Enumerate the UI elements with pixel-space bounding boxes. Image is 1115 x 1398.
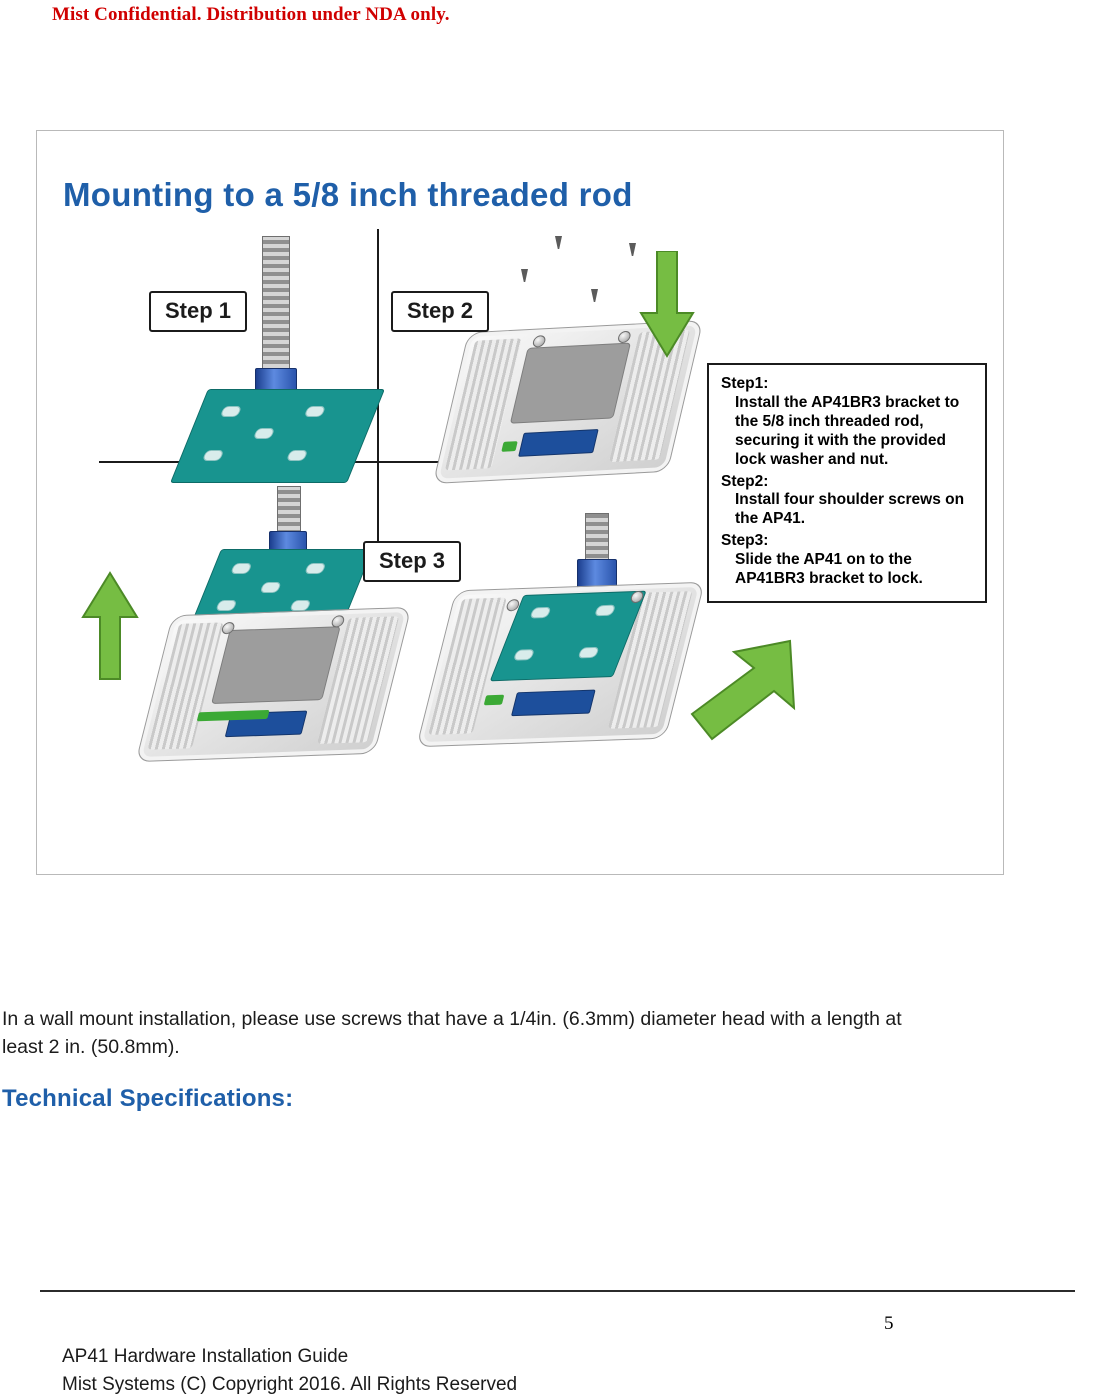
footer-divider (40, 1290, 1075, 1292)
shoulder-screw (591, 289, 598, 302)
ap-led-strip (501, 441, 518, 452)
ap-screw-head (532, 335, 547, 348)
bracket-hole (220, 406, 242, 417)
instruction-callout: Step1: Install the AP41BR3 bracket to th… (707, 363, 987, 603)
body-paragraph: In a wall mount installation, please use… (2, 1005, 932, 1062)
callout-step2-body: Install four shoulder screws on the AP41… (721, 491, 975, 529)
bracket-hole (594, 605, 616, 617)
shoulder-screw (521, 269, 528, 282)
diagonal-arrow-icon (682, 636, 802, 746)
callout-step2-head: Step2: (721, 473, 975, 492)
bracket-hole (513, 649, 535, 661)
figure-title: Mounting to a 5/8 inch threaded rod (63, 176, 633, 214)
ap-led-strip (484, 695, 505, 706)
step-2-label: Step 2 (391, 291, 489, 332)
ap-recess-plate (211, 626, 341, 704)
up-arrow-icon (79, 571, 141, 681)
bracket-hole (202, 450, 224, 461)
bracket-hole (286, 450, 308, 461)
confidential-notice: Mist Confidential. Distribution under ND… (52, 4, 450, 26)
step-3-label: Step 3 (363, 541, 461, 582)
bracket-plate-step1 (170, 389, 385, 483)
page-number: 5 (884, 1313, 894, 1335)
figure-container: Mounting to a 5/8 inch threaded rod (36, 130, 1004, 875)
footer-text: AP41 Hardware Installation Guide Mist Sy… (62, 1343, 517, 1398)
bracket-hole (215, 600, 237, 611)
ap-screw-head (617, 331, 632, 344)
ap-port-block (518, 429, 599, 457)
bracket-hole (304, 406, 326, 417)
ap41-device-lower-left (135, 607, 411, 762)
callout-step3-body: Slide the AP41 on to the AP41BR3 bracket… (721, 551, 975, 589)
shoulder-screw (629, 243, 636, 256)
down-arrow-icon (637, 251, 697, 361)
callout-step1-head: Step1: (721, 375, 975, 394)
bracket-hole (304, 563, 326, 574)
bracket-hole (230, 563, 252, 574)
bracket-hole (259, 582, 281, 593)
step-1-label: Step 1 (149, 291, 247, 332)
bracket-hole (289, 600, 311, 611)
callout-step1-body: Install the AP41BR3 bracket to the 5/8 i… (721, 394, 975, 470)
footer-line-2: Mist Systems (C) Copyright 2016. All Rig… (62, 1371, 517, 1398)
ap-screw-head (330, 615, 345, 627)
threaded-rod (262, 236, 290, 373)
ap-port-block (511, 690, 596, 717)
bracket-hole (529, 607, 551, 619)
shoulder-screw (555, 236, 562, 249)
section-heading-technical-specifications: Technical Specifications: (2, 1085, 293, 1113)
footer-line-1: AP41 Hardware Installation Guide (62, 1343, 517, 1371)
ap41-device-assembled (416, 582, 705, 748)
bracket-hole (253, 428, 275, 439)
ap-vent-ribs (147, 622, 223, 749)
bracket-hole (577, 647, 599, 659)
ap-recess-plate (510, 343, 631, 424)
callout-step3-head: Step3: (721, 532, 975, 551)
